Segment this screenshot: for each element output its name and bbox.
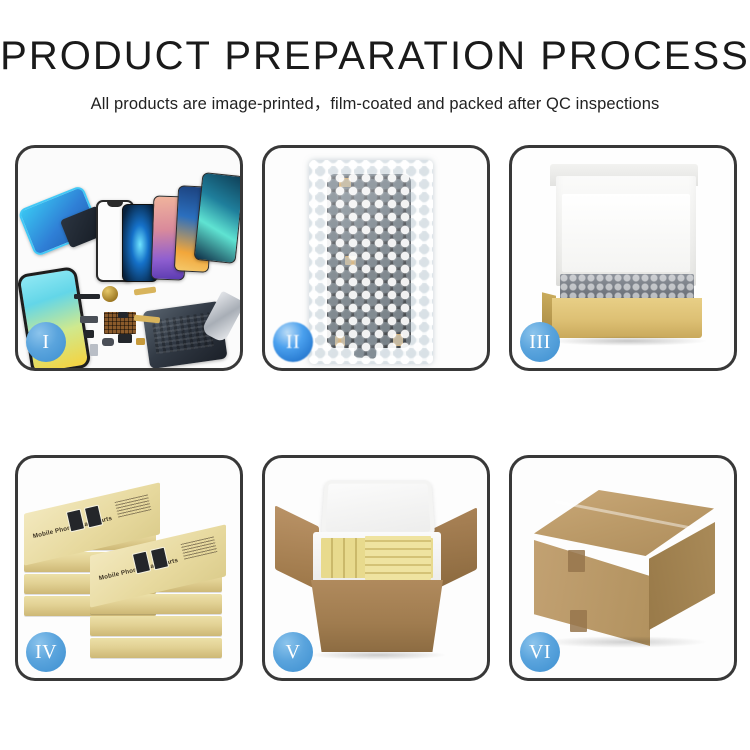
page-title: PRODUCT PREPARATION PROCESS [0,36,750,76]
speaker-box-part [118,334,132,343]
process-step-panel-1: I [15,145,243,371]
kraft-box-front [552,298,702,338]
process-step-panel-5: V [262,455,490,681]
foam-lid [321,480,435,536]
camera-module-part [102,338,114,346]
process-step-panel-4: Mobile Phone Spare Parts Mobile Phone Sp… [15,455,243,681]
step-badge-1: I [26,322,66,362]
foam-insert-sheet [562,194,690,272]
stacked-box-right-3 [90,616,222,636]
yellow-boxes-row-2 [365,536,431,580]
connector-part-1 [80,316,98,323]
step-badge-4: IV [26,632,66,672]
step-badge-5: V [273,632,313,672]
connector-part-2 [84,330,94,338]
earpiece-speaker-part [74,294,100,299]
carton-front-face [534,540,650,646]
teal-swirl-phone [194,172,240,264]
carton-front-wall [311,580,443,652]
process-step-panel-6: VI [509,455,737,681]
carton-tape-upper [568,550,585,572]
step-badge-2: II [273,322,313,362]
sim-tray-part [90,344,98,356]
step-badge-3: III [520,322,560,362]
carton-drop-shadow [309,650,447,660]
page-subtitle: All products are image-printed，film-coat… [0,90,750,114]
flex-cable-part-1 [134,286,157,295]
process-steps-grid: I II III [15,145,737,681]
gold-contact-part [136,338,145,345]
box-drop-shadow [548,336,708,346]
step-badge-6: VI [520,632,560,672]
carton-tape-lower [570,610,587,632]
carton-drop-shadow [542,636,708,648]
vibrator-coin-part [102,286,118,302]
process-step-panel-3: III [509,145,737,371]
bubble-wrap-bag [309,160,433,364]
process-step-panel-2: II [262,145,490,371]
stacked-box-right-4 [90,638,222,658]
page-header: PRODUCT PREPARATION PROCESS All products… [0,0,750,114]
small-ic-part [118,312,128,318]
